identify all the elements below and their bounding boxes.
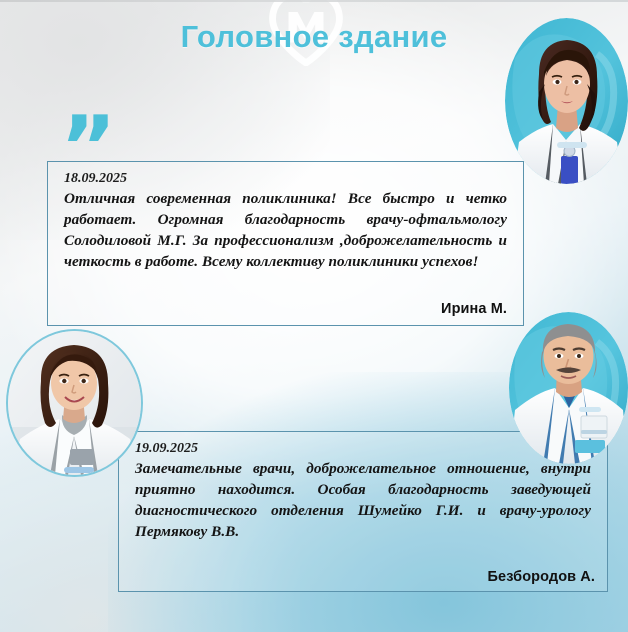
testimonial-signature: Безбородов А. xyxy=(488,569,595,585)
testimonial-text: Отличная современная поликлиника! Все бы… xyxy=(64,188,507,272)
portrait-male-doctor-bottom-right xyxy=(509,312,628,464)
slide-canvas: Головное здание ” 18.09.2025 Отличная со… xyxy=(0,0,628,632)
quote-mark-icon: ” xyxy=(60,105,114,191)
testimonial-text: Замечательные врачи, доброжелательное от… xyxy=(135,458,591,542)
testimonial-card-2-content: 19.09.2025 Замечательные врачи, доброжел… xyxy=(119,432,607,591)
testimonial-card-1: 18.09.2025 Отличная современная поликлин… xyxy=(47,161,524,326)
testimonial-card-2: 19.09.2025 Замечательные врачи, доброжел… xyxy=(118,431,608,592)
testimonial-date: 18.09.2025 xyxy=(64,171,507,187)
testimonial-card-1-content: 18.09.2025 Отличная современная поликлин… xyxy=(48,162,523,325)
testimonial-signature: Ирина М. xyxy=(441,301,507,317)
portrait-female-doctor-top-right xyxy=(505,18,628,184)
portrait-female-doctor-left xyxy=(6,329,143,477)
testimonial-date: 19.09.2025 xyxy=(135,441,591,457)
